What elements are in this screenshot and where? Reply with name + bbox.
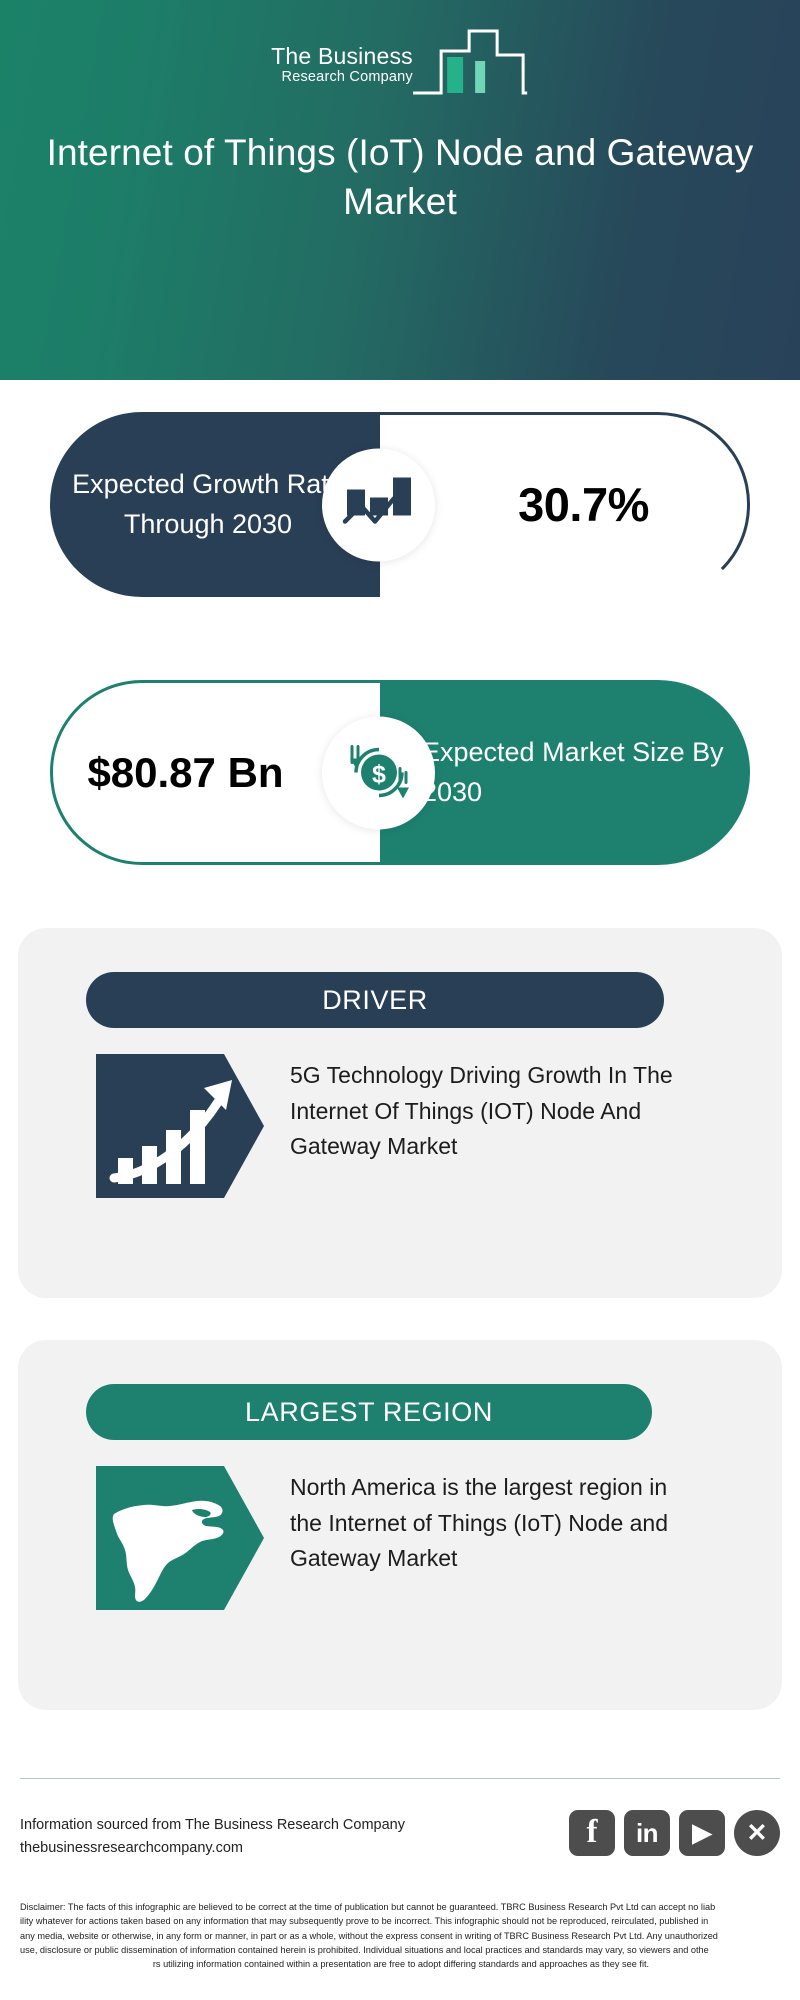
region-pill-label: LARGEST REGION <box>245 1397 493 1428</box>
youtube-glyph: ▶ <box>692 1821 711 1846</box>
stat-card-growth-rate: Expected Growth Rate Through 2030 30.7% <box>50 412 750 597</box>
disclaimer-line-4: use, disclosure or public dissemination … <box>20 1943 782 1957</box>
footer: Information sourced from The Business Re… <box>20 1800 780 1880</box>
linkedin-icon[interactable]: in <box>624 1810 670 1856</box>
driver-panel: DRIVER 5G Technology Driving Growth In T… <box>18 928 782 1298</box>
driver-pill: DRIVER <box>86 972 664 1028</box>
footer-source-line-2[interactable]: thebusinessresearchcompany.com <box>20 1837 405 1860</box>
company-logo: The Business Research Company <box>271 25 529 97</box>
region-pill: LARGEST REGION <box>86 1384 652 1440</box>
facebook-glyph: f <box>587 1816 598 1849</box>
region-text: North America is the largest region in t… <box>290 1470 690 1577</box>
linkedin-glyph: in <box>636 1820 658 1846</box>
stat-card-growth-value-block: 30.7% <box>380 412 750 597</box>
rising-bar-chart-arrow-icon <box>96 1054 264 1214</box>
social-links: f in ▶ ✕ <box>569 1810 780 1856</box>
stat-card-size-value: $80.87 Bn <box>87 747 345 798</box>
footer-source: Information sourced from The Business Re… <box>20 1814 405 1861</box>
region-body: North America is the largest region in t… <box>18 1466 782 1626</box>
disclaimer: Disclaimer: The facts of this infographi… <box>20 1900 782 1971</box>
page-title: Internet of Things (IoT) Node and Gatewa… <box>0 128 800 226</box>
driver-pill-label: DRIVER <box>322 985 428 1016</box>
disclaimer-line-3: any media, website or otherwise, in any … <box>20 1929 782 1943</box>
disclaimer-line-5: rs utilizing information contained withi… <box>20 1957 782 1971</box>
dollar-cycle-icon: $ <box>322 716 435 829</box>
stat-card-growth-value: 30.7% <box>478 477 649 532</box>
driver-text: 5G Technology Driving Growth In The Inte… <box>290 1058 690 1165</box>
x-twitter-icon[interactable]: ✕ <box>734 1810 780 1856</box>
x-twitter-glyph: ✕ <box>747 1821 768 1846</box>
footer-source-line-1: Information sourced from The Business Re… <box>20 1814 405 1837</box>
disclaimer-line-1: Disclaimer: The facts of this infographi… <box>20 1900 782 1914</box>
bar-chart-logo-mark <box>411 25 529 97</box>
stat-card-size-label-block: Expected Market Size By 2030 <box>380 680 750 865</box>
growth-chart-icon <box>322 448 435 561</box>
logo-line-1: The Business <box>271 44 413 68</box>
driver-body: 5G Technology Driving Growth In The Inte… <box>18 1054 782 1214</box>
infographic-page: The Business Research Company Internet o… <box>0 0 800 2000</box>
region-panel: LARGEST REGION North America is the larg… <box>18 1340 782 1710</box>
disclaimer-line-2: ility whatever for actions taken based o… <box>20 1914 782 1928</box>
header-banner: The Business Research Company Internet o… <box>0 0 800 380</box>
logo-wordmark: The Business Research Company <box>271 44 413 97</box>
youtube-icon[interactable]: ▶ <box>679 1810 725 1856</box>
stat-card-market-size: $80.87 Bn Expected Market Size By 2030 $ <box>50 680 750 865</box>
north-america-map-icon <box>96 1466 264 1626</box>
svg-text:$: $ <box>372 761 386 789</box>
footer-divider <box>20 1778 780 1779</box>
logo-line-2: Research Company <box>282 69 413 86</box>
stat-card-size-label: Expected Market Size By 2030 <box>380 733 750 811</box>
facebook-icon[interactable]: f <box>569 1810 615 1856</box>
